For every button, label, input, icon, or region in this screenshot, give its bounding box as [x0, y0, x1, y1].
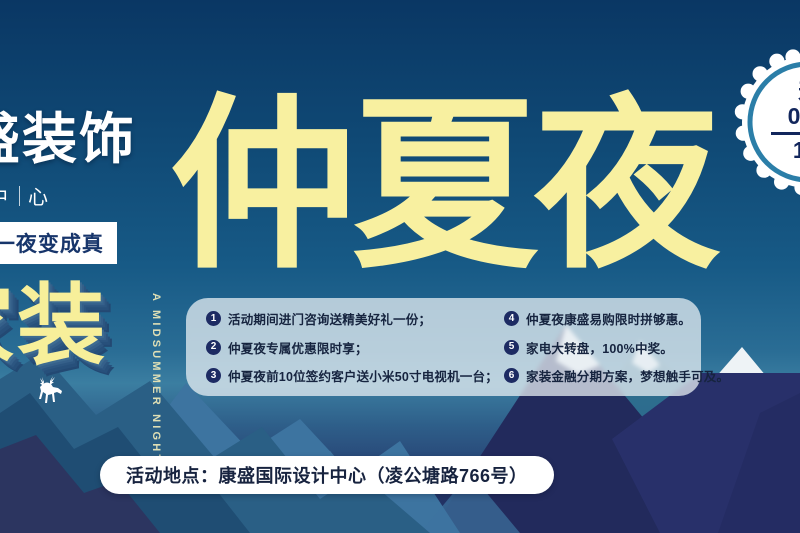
- list-item: 6 家装金融分期方案，梦想触手可及。: [504, 366, 714, 385]
- offer-number: 6: [504, 368, 519, 383]
- brand-sub-char-3: 心: [28, 181, 51, 210]
- event-date-badge: 天 08/2 18:: [733, 47, 800, 197]
- list-item: 4 仲夏夜康盛易购限时拼够惠。: [504, 309, 714, 328]
- page-title: 仲夏夜: [170, 94, 716, 280]
- offers-panel: 1 活动期间进门咨询送精美好礼一份； 2 仲夏夜专属优惠限时享； 3 仲夏夜前1…: [186, 298, 701, 396]
- venue-address-text: 活动地点：康盛国际设计中心（凌公塘路766号）: [126, 462, 528, 488]
- badge-date: 08/2: [788, 104, 800, 129]
- offer-number: 3: [206, 368, 221, 383]
- offer-number: 2: [206, 340, 221, 355]
- offer-number: 1: [206, 311, 221, 326]
- offers-column-right: 4 仲夏夜康盛易购限时拼够惠。 5 家电大转盘，100%中奖。 6 家装金融分期…: [504, 309, 714, 385]
- brand-sub-char-2: 中: [0, 181, 11, 210]
- badge-time: 18:: [793, 138, 800, 163]
- offer-text: 活动期间进门咨询送精美好礼一份；: [228, 309, 431, 328]
- list-item: 3 仲夏夜前10位签约客户送小米50寸电视机一台；: [206, 366, 494, 385]
- badge-content: 天 08/2 18:: [733, 47, 800, 197]
- brand-sub-divider: [19, 186, 20, 206]
- offer-text: 仲夏夜前10位签约客户送小米50寸电视机一台；: [228, 366, 498, 385]
- offer-text: 仲夏夜康盛易购限时拼够惠。: [526, 309, 691, 328]
- offer-text: 仲夏夜专属优惠限时享；: [228, 338, 368, 357]
- badge-divider: [771, 132, 800, 135]
- mountain-wedge-right: [0, 373, 800, 533]
- list-item: 2 仲夏夜专属优惠限时享；: [206, 338, 494, 357]
- brand-tagline: 家装梦 一夜变成真: [0, 222, 117, 264]
- secondary-headline: 家装: [0, 282, 108, 370]
- deer-icon: [28, 372, 72, 416]
- promo-poster: 天 08/2 18: 康盛装饰 設 計 中 心 家装梦 一夜变成真 家装 仲夏夜…: [0, 0, 800, 533]
- offer-number: 5: [504, 340, 519, 355]
- list-item: 5 家电大转盘，100%中奖。: [504, 338, 714, 357]
- vertical-english-label: A MIDSUMMER NIGHT: [150, 293, 162, 464]
- offer-text: 家装金融分期方案，梦想触手可及。: [526, 366, 729, 385]
- offers-column-left: 1 活动期间进门咨询送精美好礼一份； 2 仲夏夜专属优惠限时享； 3 仲夏夜前1…: [206, 309, 494, 385]
- venue-address-pill: 活动地点：康盛国际设计中心（凌公塘路766号）: [100, 456, 554, 494]
- offer-number: 4: [504, 311, 519, 326]
- list-item: 1 活动期间进门咨询送精美好礼一份；: [206, 309, 494, 328]
- offer-text: 家电大转盘，100%中奖。: [526, 338, 673, 357]
